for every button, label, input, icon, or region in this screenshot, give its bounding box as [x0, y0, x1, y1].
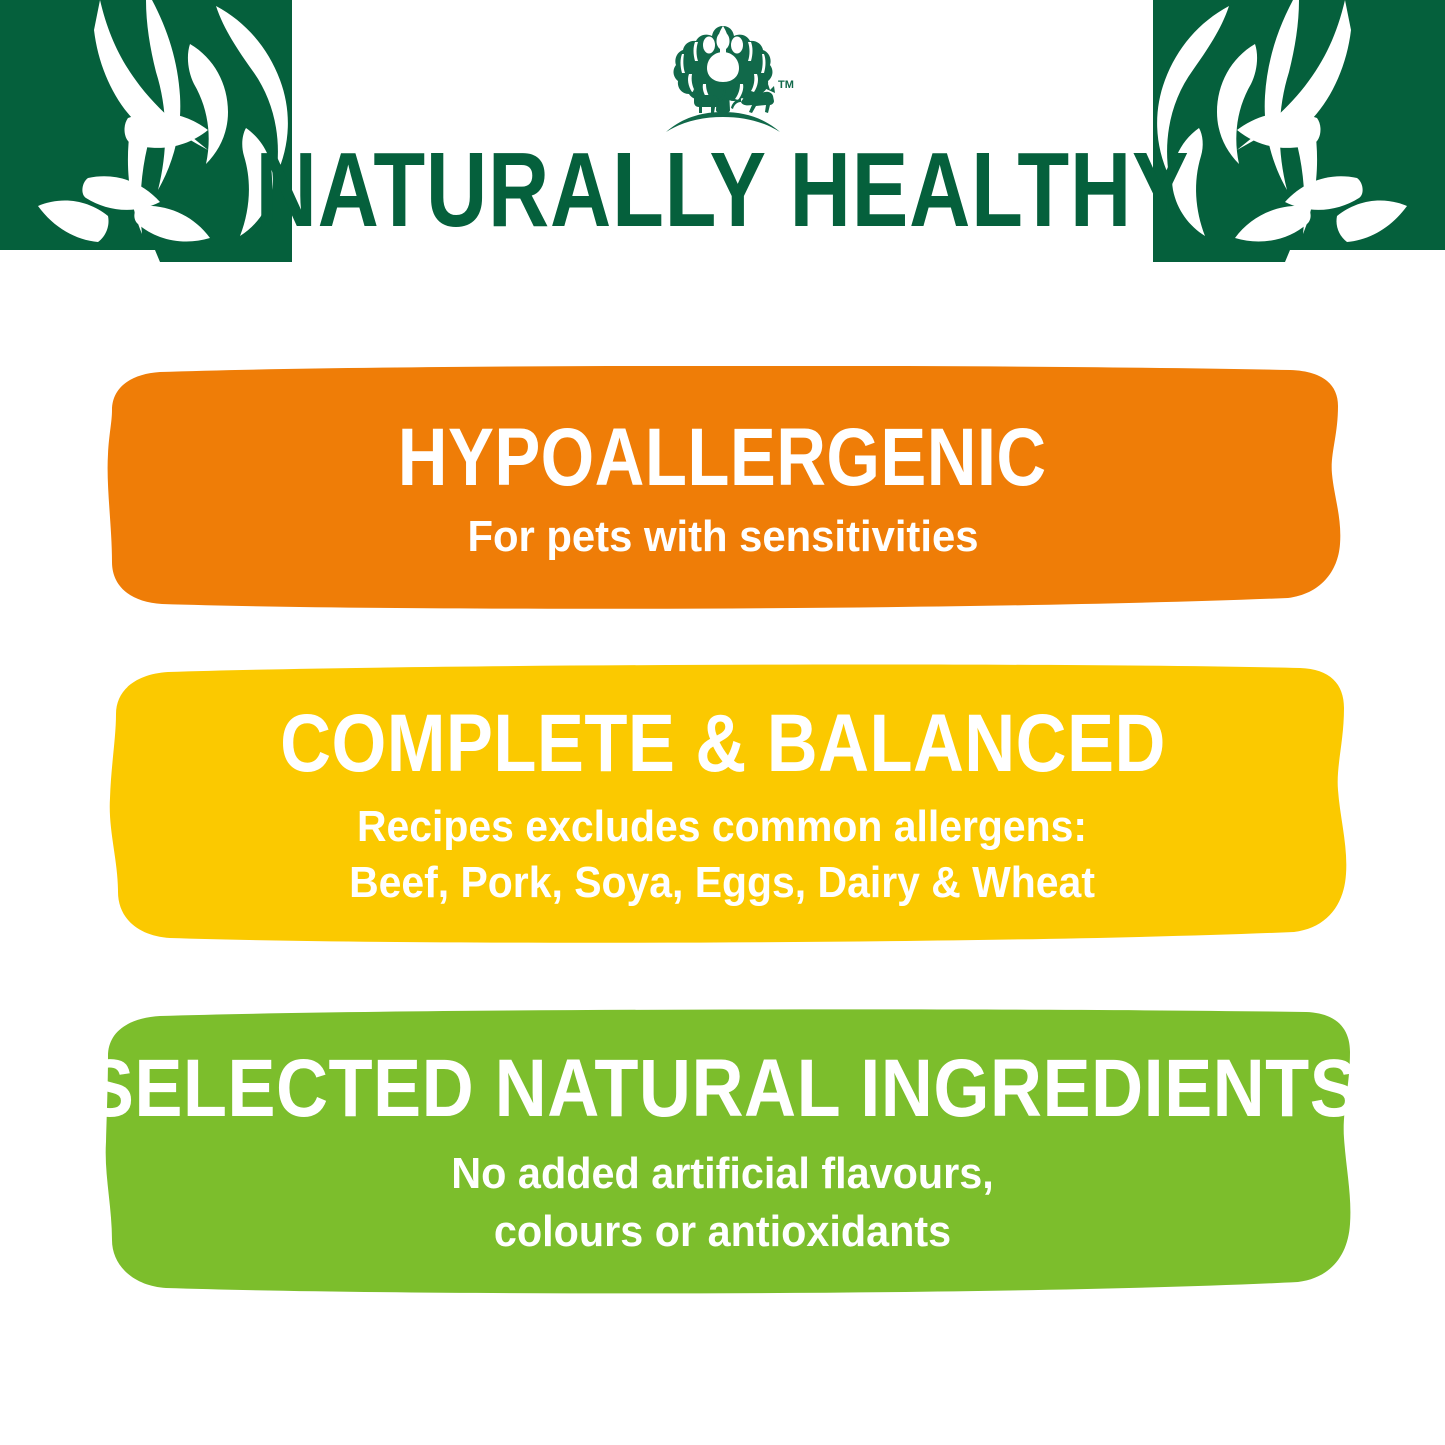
banner-subline: colours or antioxidants [451, 1203, 993, 1261]
banner-complete-balanced: COMPLETE & BALANCED Recipes excludes com… [0, 662, 1445, 950]
banner-heading-complete-balanced: COMPLETE & BALANCED [280, 701, 1166, 787]
banner-subtext-complete-balanced: Recipes excludes common allergens: Beef,… [350, 799, 1096, 911]
banner-hypoallergenic: HYPOALLERGENIC For pets with sensitiviti… [0, 366, 1445, 611]
banner-subtext-hypoallergenic: For pets with sensitivities [467, 511, 978, 563]
banner-subline: No added artificial flavours, [451, 1145, 993, 1203]
header-banner: TM NATURALLY HEALTHY [0, 0, 1445, 262]
banner-subtext-selected-natural: No added artificial flavours, colours or… [451, 1145, 993, 1261]
banner-heading-hypoallergenic: HYPOALLERGENIC [398, 415, 1047, 501]
page-title: NATURALLY HEALTHY [145, 134, 1301, 246]
banner-heading-selected-natural: SELECTED NATURAL INGREDIENTS [86, 1045, 1359, 1133]
trademark-mark: TM [778, 79, 794, 91]
tree-paw-logo: TM [646, 18, 800, 138]
banner-subline: Recipes excludes common allergens: [350, 799, 1096, 855]
banner-subline: For pets with sensitivities [467, 511, 978, 563]
banner-selected-natural: SELECTED NATURAL INGREDIENTS No added ar… [0, 1008, 1445, 1298]
banner-subline: Beef, Pork, Soya, Eggs, Dairy & Wheat [350, 855, 1096, 911]
